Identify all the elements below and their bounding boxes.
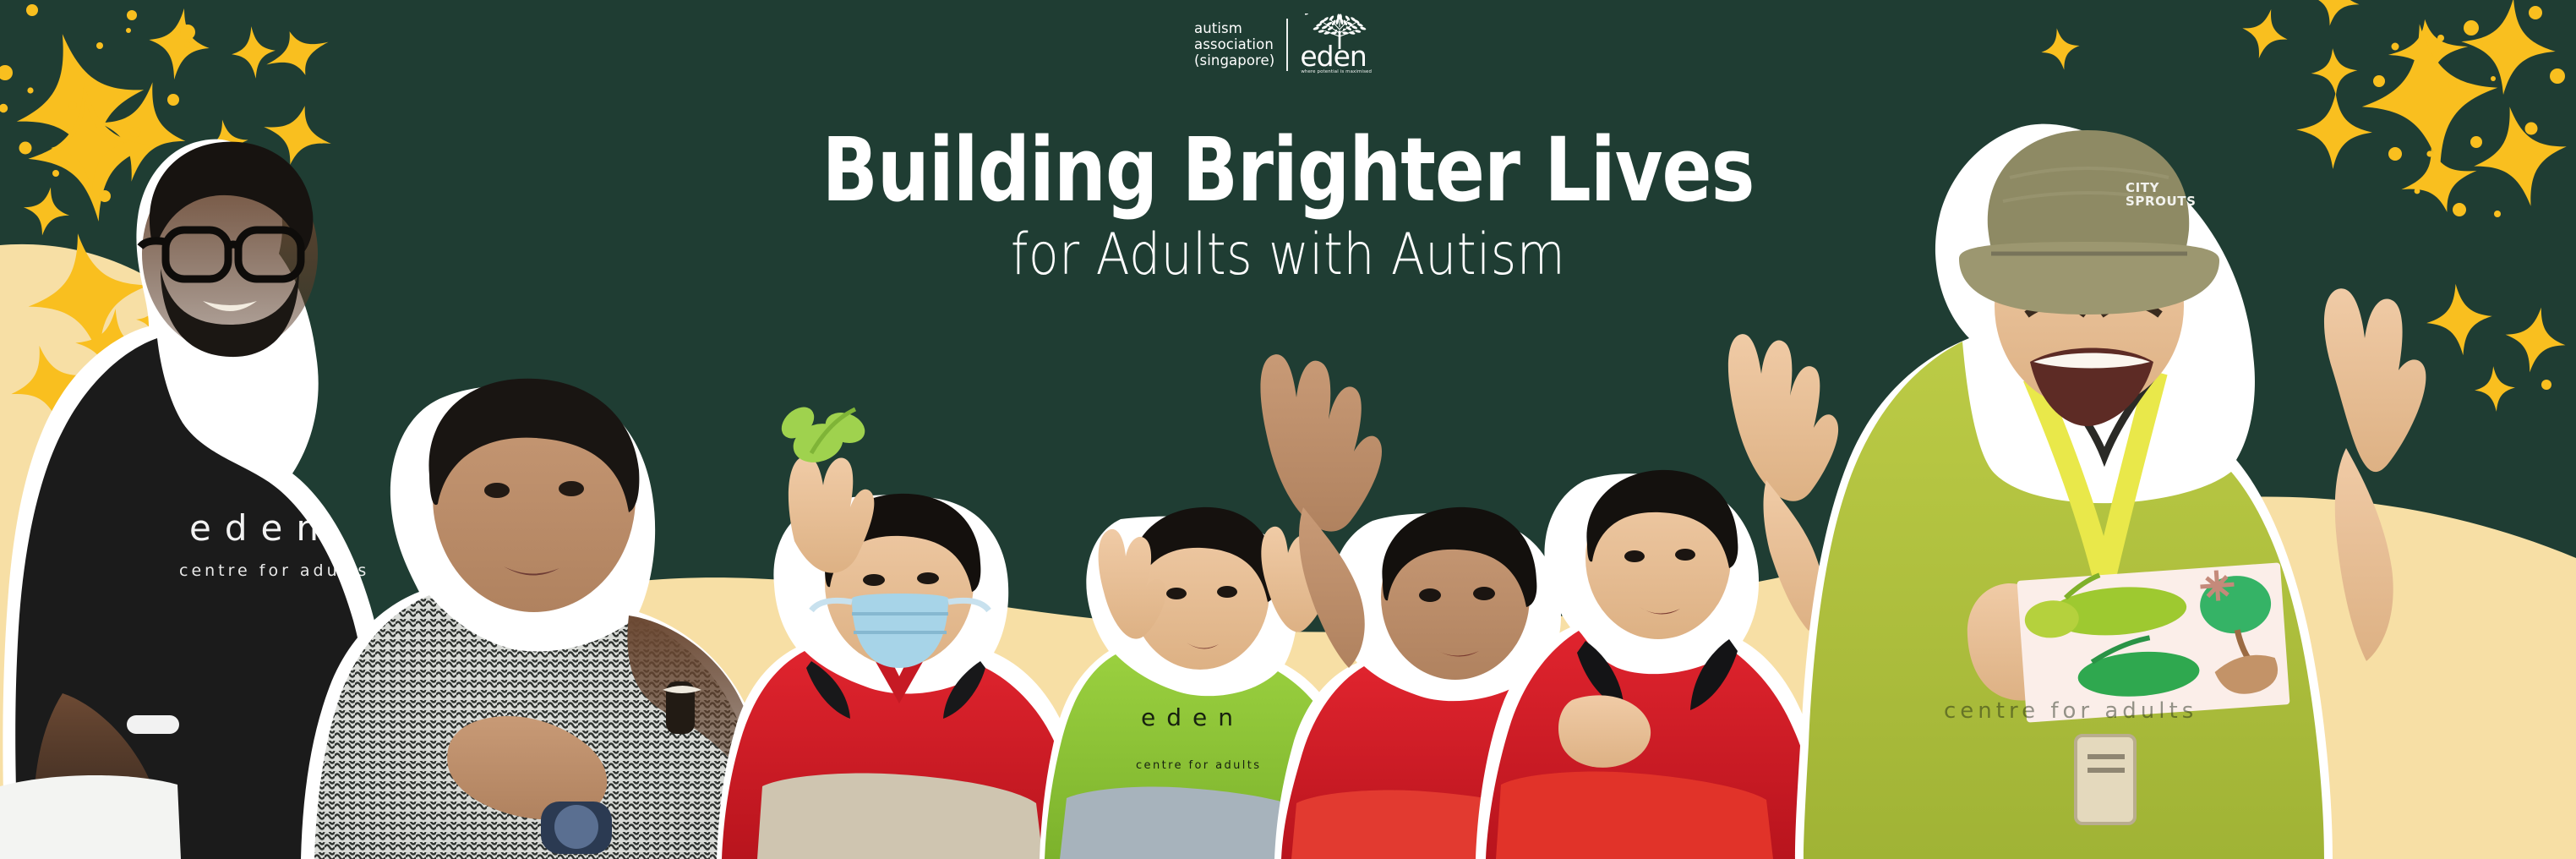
shirt-brand-eden-staff: eden	[189, 507, 332, 549]
eden-tagline: where potential is maximised	[1301, 69, 1385, 75]
shirt-tagline-olive: centre for adults	[1944, 698, 2197, 724]
org-name: autism association (singapore)	[1194, 12, 1274, 68]
shirt-tagline-green: centre for adults	[1136, 759, 1261, 772]
banner-hero: eden centre for adults eden centre for a…	[0, 0, 2576, 859]
eden-sub-brand: eden where potential is maximised	[1300, 12, 1378, 78]
org-name-line-2: association	[1194, 36, 1274, 52]
shirt-tagline-staff: centre for adults	[179, 561, 369, 580]
page-subtitle: for Adults with Autism	[180, 223, 2395, 287]
brand-logo[interactable]: autism association (singapore)	[1194, 12, 1380, 78]
org-name-line-1: autism	[1194, 20, 1274, 36]
eden-wordmark: eden	[1300, 42, 1378, 70]
logo-divider	[1286, 19, 1288, 71]
headline-block: Building Brighter Lives for Adults with …	[0, 125, 2576, 287]
org-name-line-3: (singapore)	[1194, 52, 1274, 68]
shirt-brand-eden-green: eden	[1141, 703, 1244, 731]
page-title: Building Brighter Lives	[90, 125, 2486, 215]
